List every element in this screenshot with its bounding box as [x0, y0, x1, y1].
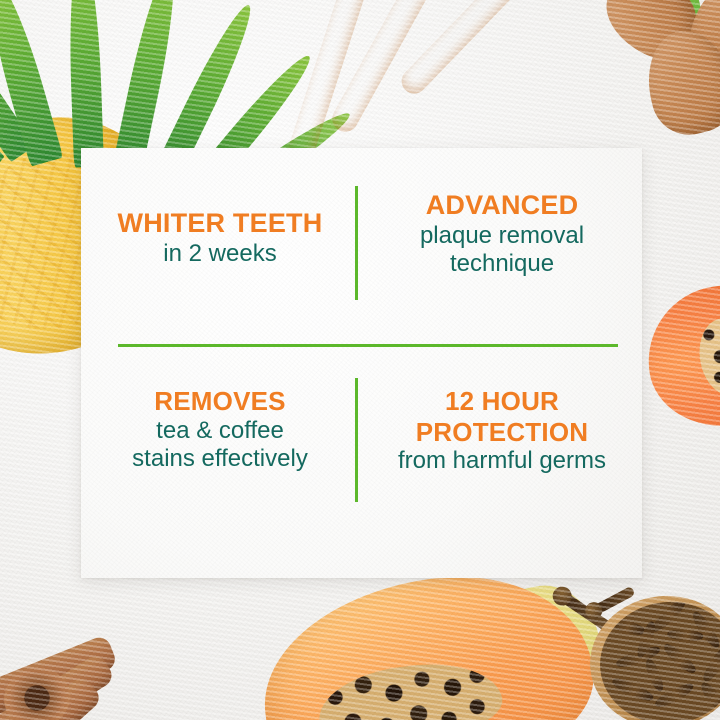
- almond-leaf-icon: [663, 0, 707, 88]
- benefit-subline: plaque removal: [373, 222, 631, 250]
- papaya-slice-icon: [639, 276, 720, 436]
- papaya-seeds-icon: [314, 655, 506, 720]
- benefit-subline: technique: [373, 250, 631, 278]
- benefit-subline: in 2 weeks: [91, 240, 349, 268]
- pineapple-leaf-icon: [67, 0, 104, 168]
- papaya-seeds-icon: [694, 314, 720, 400]
- carrot-stick-icon: [328, 0, 443, 136]
- benefits-card: WHITER TEETH in 2 weeks ADVANCED plaque …: [81, 148, 642, 578]
- benefit-subline: tea & coffee: [91, 417, 349, 445]
- almond-leaf-icon: [681, 55, 720, 109]
- benefit-headline: REMOVES: [91, 386, 349, 417]
- clove-pile-icon: [594, 595, 720, 720]
- pineapple-leaf-icon: [112, 0, 184, 172]
- clove-dish-icon: [584, 589, 720, 720]
- clove-icon: [558, 591, 612, 633]
- papaya-half-icon: [252, 561, 603, 720]
- benefit-advanced-plaque-removal: ADVANCED plaque removal technique: [373, 190, 631, 278]
- cinnamon-stick-icon: [0, 634, 118, 720]
- clove-icon: [590, 586, 635, 616]
- carrot-stick-icon: [396, 0, 532, 99]
- pineapple-rind-icon: [0, 122, 24, 348]
- cinnamon-stick-icon: [0, 674, 104, 720]
- cinnamon-stick-icon: [0, 686, 56, 720]
- benefit-grid: WHITER TEETH in 2 weeks ADVANCED plaque …: [81, 148, 642, 578]
- benefit-subline: stains effectively: [91, 445, 349, 473]
- pineapple-leaf-icon: [0, 13, 35, 162]
- benefit-12-hour-protection: 12 HOUR PROTECTION from harmful germs: [373, 386, 631, 476]
- benefit-subline: from harmful germs: [373, 447, 631, 475]
- benefit-headline: 12 HOUR: [373, 386, 631, 417]
- cinnamon-stick-icon: [0, 652, 116, 720]
- infographic-stage: WHITER TEETH in 2 weeks ADVANCED plaque …: [0, 0, 720, 720]
- benefit-headline: ADVANCED: [373, 190, 631, 222]
- benefit-whiter-teeth: WHITER TEETH in 2 weeks: [91, 208, 349, 268]
- almond-icon: [592, 0, 707, 69]
- benefit-headline: WHITER TEETH: [91, 208, 349, 240]
- pineapple-leaf-icon: [0, 0, 63, 167]
- cinnamon-curl-icon: [0, 662, 76, 720]
- pineapple-leaf-icon: [0, 70, 5, 177]
- almond-icon: [637, 21, 720, 142]
- benefit-removes-stains: REMOVES tea & coffee stains effectively: [91, 386, 349, 473]
- papaya-rind-icon: [459, 576, 611, 720]
- benefit-headline-line2: PROTECTION: [373, 417, 631, 448]
- almond-icon: [682, 0, 720, 76]
